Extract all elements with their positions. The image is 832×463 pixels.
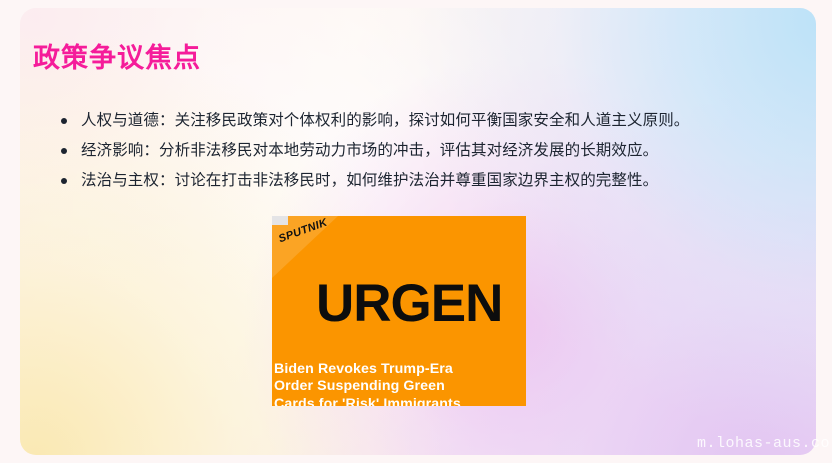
site-watermark: m.lohas-aus.co [697,435,830,452]
list-item-label: 经济影响：分析非法移民对本地劳动力市场的冲击，评估其对经济发展的长期效应。 [81,142,658,159]
news-caption-line-1: Biden Revokes Trump-Era [274,361,526,379]
news-caption-line-3: Cards for 'Risk' Immigrants [274,396,526,407]
list-item-label: 法治与主权：讨论在打击非法移民时，如何维护法治并尊重国家边界主权的完整性。 [81,172,658,189]
list-item: 经济影响：分析非法移民对本地劳动力市场的冲击，评估其对经济发展的长期效应。 [55,136,775,166]
news-caption-line-2: Order Suspending Green [274,378,526,396]
list-item: 法治与主权：讨论在打击非法移民时，如何维护法治并尊重国家边界主权的完整性。 [55,166,775,196]
news-headline-word: URGEN [316,273,502,334]
news-caption: Biden Revokes Trump-Era Order Suspending… [274,361,526,407]
bullet-list: 人权与道德：关注移民政策对个体权利的影响，探讨如何平衡国家安全和人道主义原则。 … [55,106,775,196]
bullet-dot-icon [61,148,67,154]
bullet-dot-icon [61,178,67,184]
slide-root: 政策争议焦点 人权与道德：关注移民政策对个体权利的影响，探讨如何平衡国家安全和人… [0,0,832,463]
news-image-card: SPUTNIK URGEN Biden Revokes Trump-Era Or… [272,216,526,406]
corner-notch-decoration [272,216,288,225]
page-title: 政策争议焦点 [33,36,201,75]
bullet-dot-icon [61,118,67,124]
list-item-label: 人权与道德：关注移民政策对个体权利的影响，探讨如何平衡国家安全和人道主义原则。 [81,112,689,129]
list-item: 人权与道德：关注移民政策对个体权利的影响，探讨如何平衡国家安全和人道主义原则。 [55,106,775,136]
